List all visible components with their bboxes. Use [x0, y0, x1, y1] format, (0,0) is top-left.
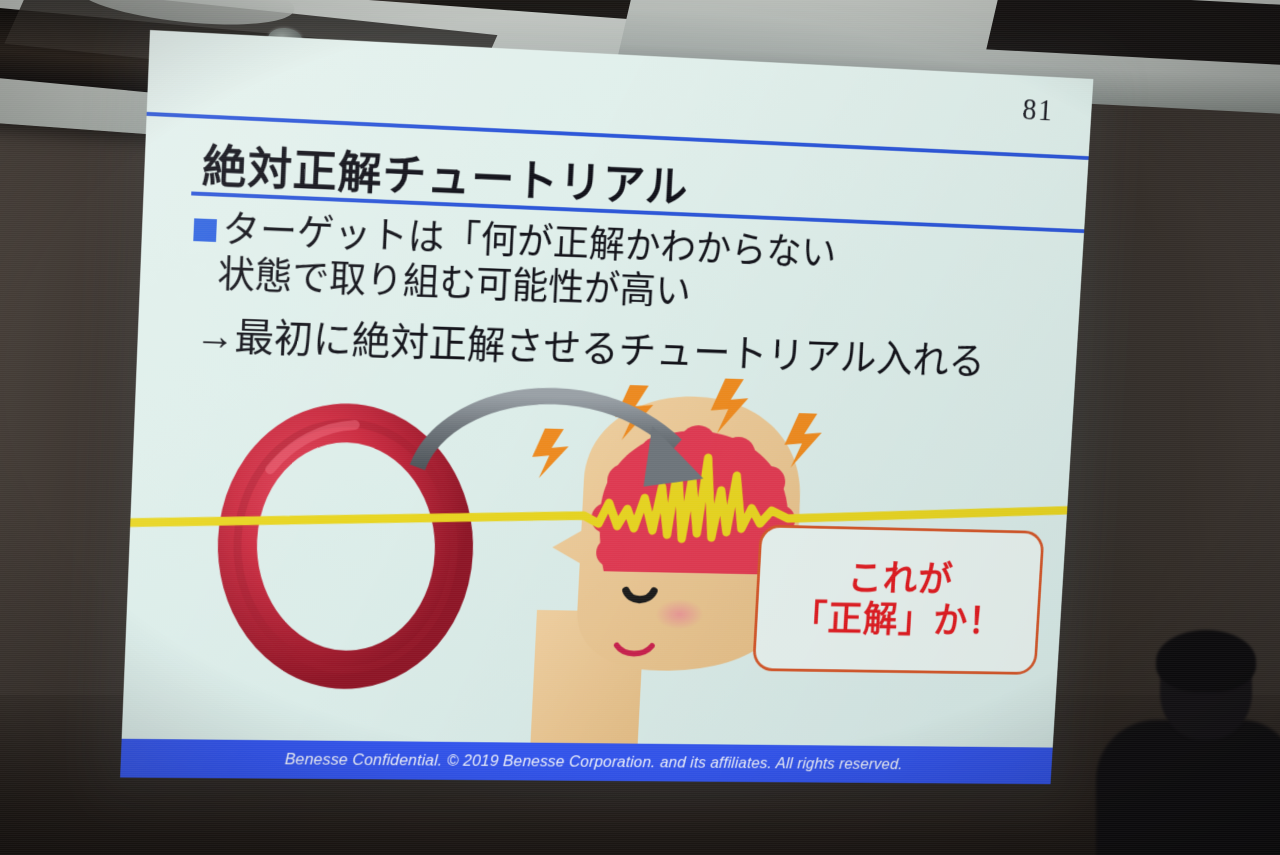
silhouette-body — [1096, 720, 1280, 855]
audience-member-silhouette — [1080, 630, 1280, 855]
slide-footer: Benesse Confidential. © 2019 Benesse Cor… — [120, 739, 1053, 784]
speech-bubble-line-1: これが — [847, 560, 954, 599]
silhouette-hair — [1156, 630, 1256, 692]
page-number: 81 — [1022, 93, 1055, 129]
body-content: ターゲットは「何が正解かわからない 状態で取り組む可能性が高い →最初に絶対正解… — [188, 205, 1058, 387]
footer-copyright-text: Benesse Confidential. © 2019 Benesse Cor… — [284, 750, 903, 773]
presentation-slide: 81 絶対正解チュートリアル ターゲットは「何が正解かわからない 状態で取り組む… — [120, 30, 1093, 784]
lecture-room-photo: 81 絶対正解チュートリアル ターゲットは「何が正解かわからない 状態で取り組む… — [0, 0, 1280, 855]
square-bullet-icon — [193, 218, 217, 242]
illustration: これが 「正解」か！ — [122, 358, 1075, 748]
speech-bubble: これが 「正解」か！ — [752, 524, 1045, 674]
speech-bubble-line-2: 「正解」か！ — [791, 600, 1004, 641]
